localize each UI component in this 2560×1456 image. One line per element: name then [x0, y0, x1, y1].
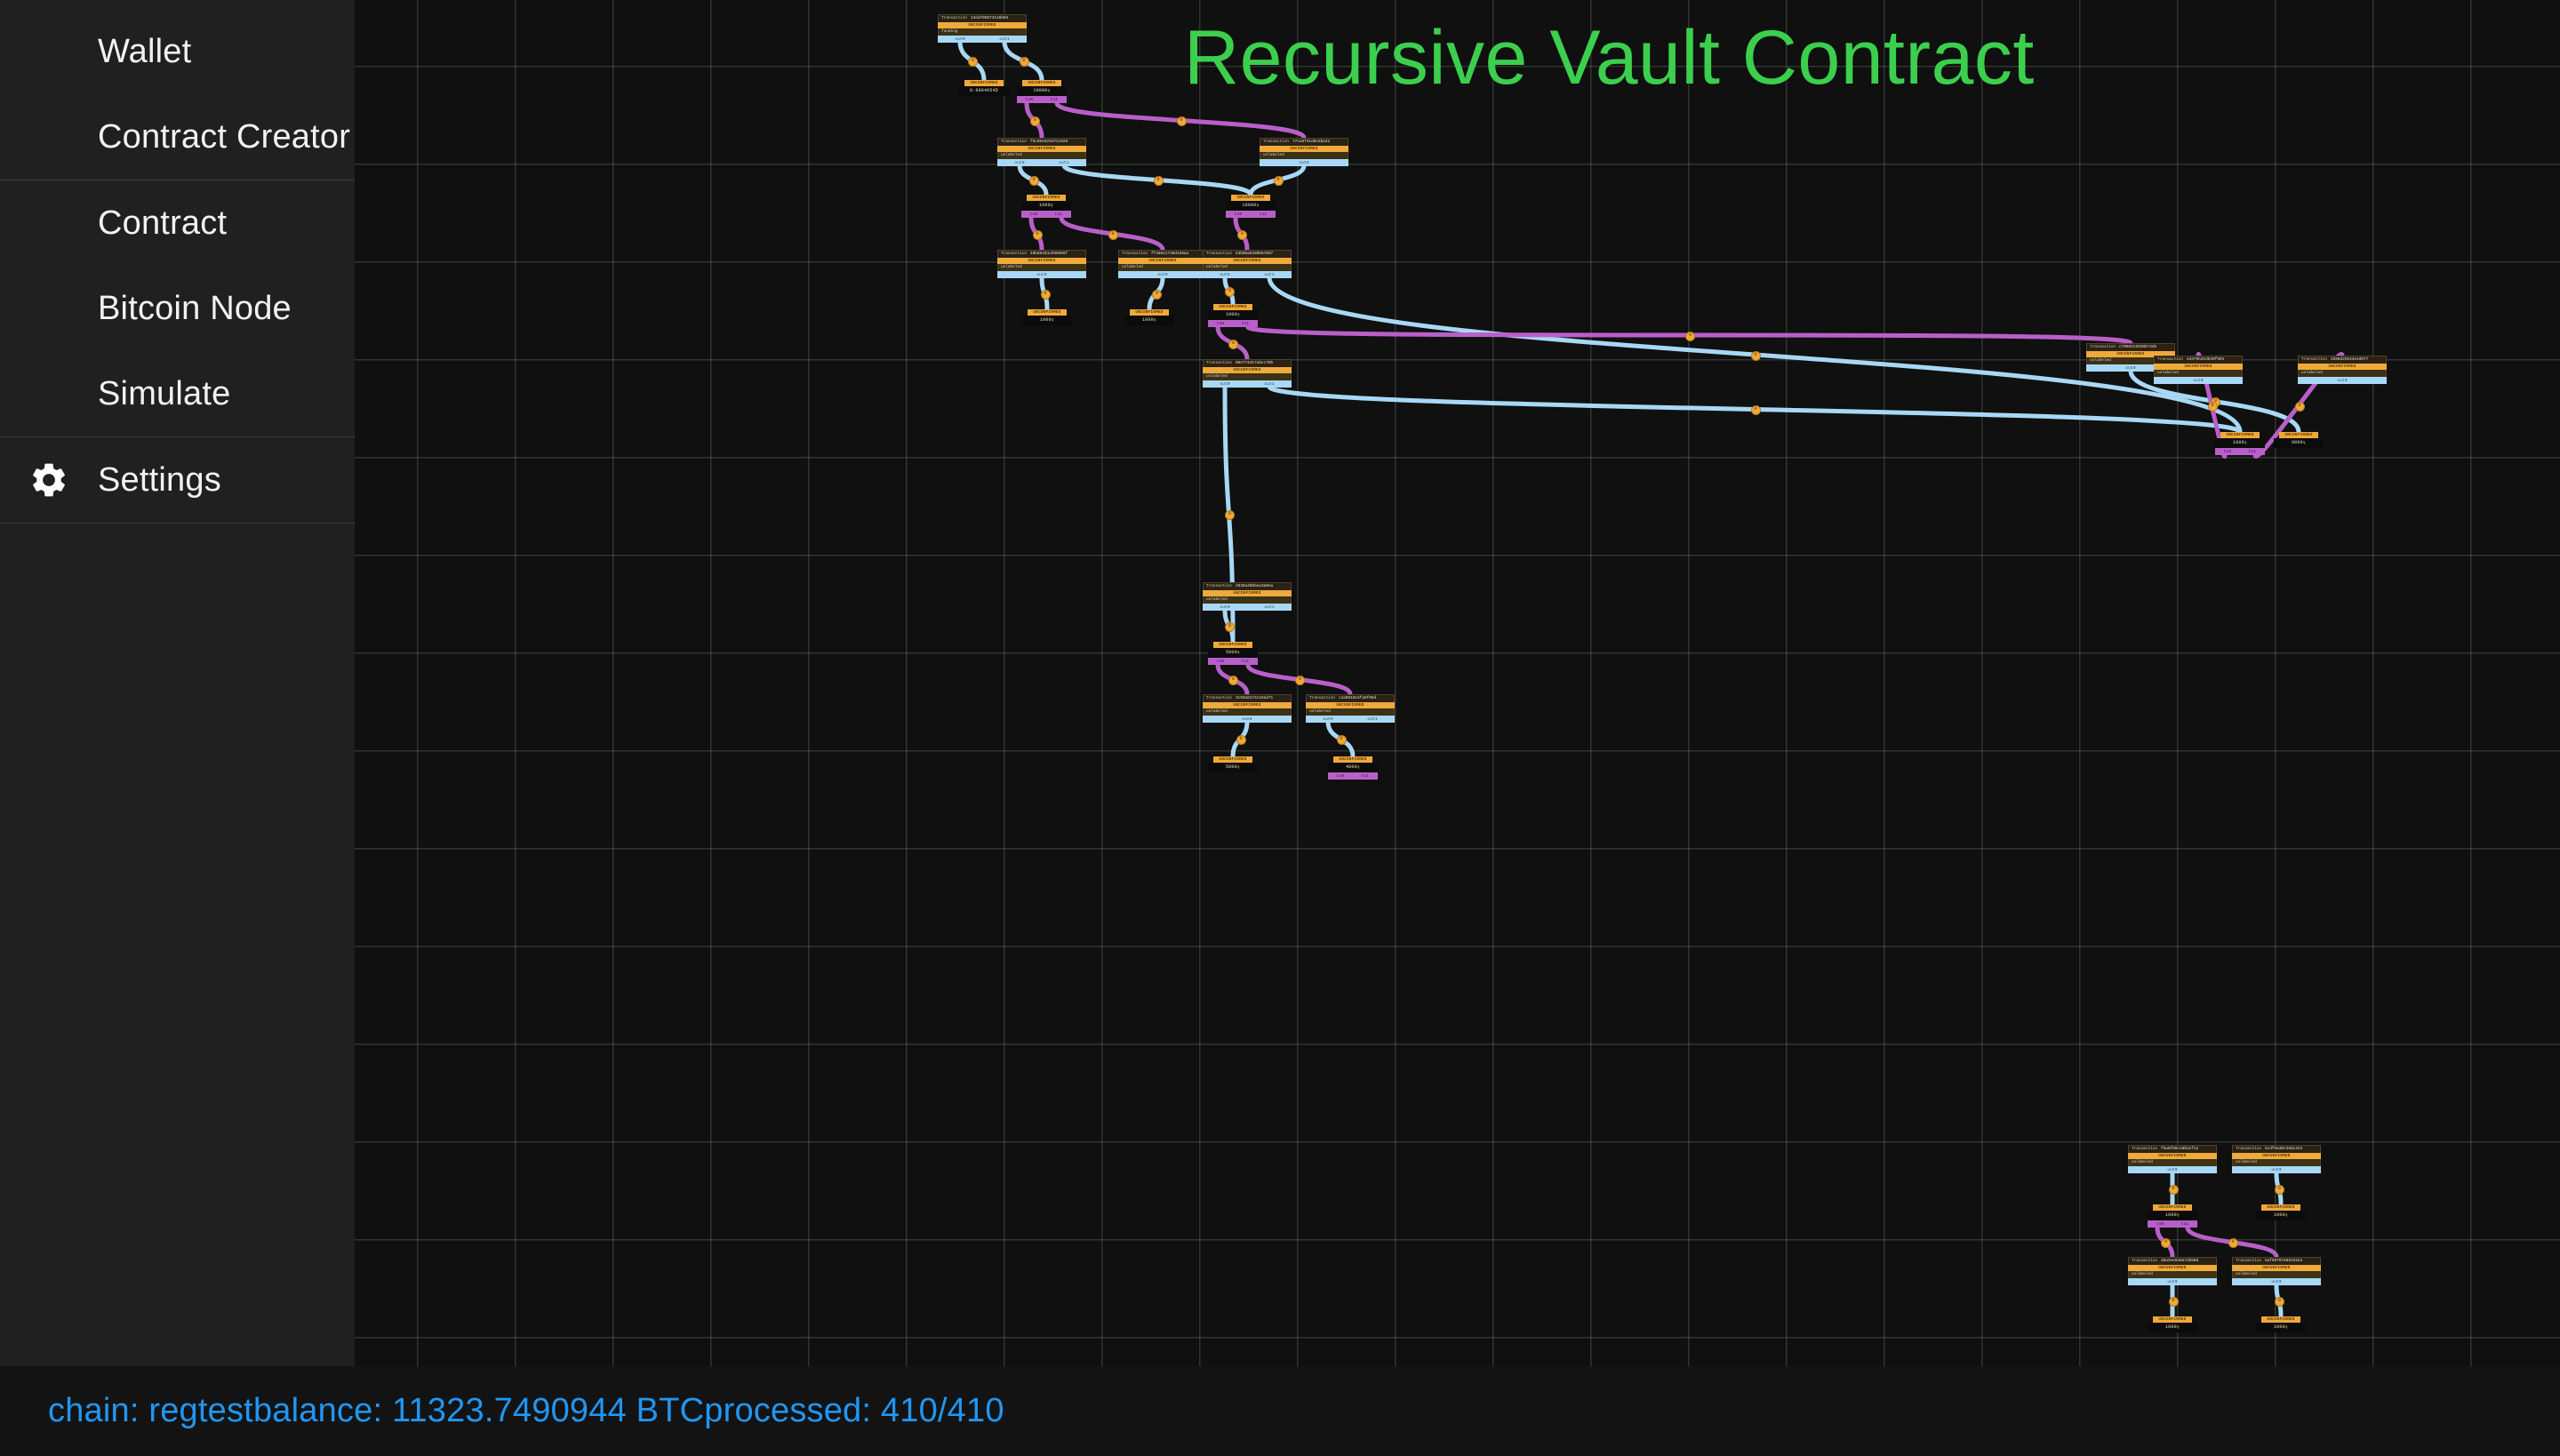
transaction-outputs[interactable]: out0out1 — [1203, 604, 1292, 611]
utxo-amount-unit: ş — [1051, 203, 1053, 208]
utxo-amount: 1000ş — [2256, 1323, 2306, 1332]
transaction-outputs[interactable]: out0 — [1203, 716, 1292, 723]
transaction-hash: f5a5f99ce8b1ef12 — [2161, 1146, 2198, 1153]
status-badge: UNCONFIRMED — [1027, 195, 1066, 201]
utxo-amount: 1000ş — [2148, 1323, 2197, 1332]
status-bar: chain: regtestbalance: 11323.7490944 BTC… — [0, 1366, 2560, 1456]
transaction-header: Transaction4038a408bea3a0ea — [1203, 582, 1292, 590]
utxo-amount-unit: ₿ — [996, 88, 998, 93]
spend-port-tx1[interactable]: tx1 — [2249, 450, 2257, 454]
status-badge: UNCONFIRMED — [2153, 1204, 2192, 1211]
utxo-amount-value: 1000 — [2274, 1212, 2285, 1218]
status-badge: UNCONFIRMED — [1203, 702, 1292, 708]
utxo-amount: 9000ş — [2274, 438, 2324, 448]
edge-index-badge: 0 — [1337, 735, 1347, 745]
sidebar-item-simulate[interactable]: Simulate — [0, 351, 355, 436]
status-badge: UNCONFIRMED — [1203, 590, 1292, 596]
output-port-out0[interactable]: out0 — [2271, 1280, 2281, 1284]
utxo-spend-ports[interactable]: tx0tx1 — [1021, 211, 1071, 218]
status-badge: UNCONFIRMED — [1213, 304, 1252, 310]
sidebar-item-wallet[interactable]: Wallet — [0, 9, 355, 94]
transaction-outputs[interactable]: out0out1 — [997, 159, 1086, 166]
output-port-out0[interactable]: out0 — [2337, 379, 2347, 383]
transaction-outputs[interactable]: out0 — [2232, 1278, 2321, 1285]
edge-index-badge: 0 — [2208, 402, 2218, 412]
utxo-amount-value: 10000 — [1242, 203, 1256, 208]
utxo-amount: 5000ş — [1208, 763, 1258, 772]
transaction-outputs[interactable]: out0 — [2128, 1166, 2217, 1173]
utxo-node[interactable]: UNCONFIRMED1000ştx0tx1 — [2148, 1204, 2197, 1228]
transaction-node[interactable]: Transaction49bd53d4cb90866fUNCONFIRMEDun… — [997, 250, 1086, 278]
utxo-node[interactable]: UNCONFIRMED1000ş — [2256, 1204, 2306, 1220]
output-port-out0[interactable]: out0 — [1014, 161, 1024, 165]
edge-index-badge: 0 — [1177, 116, 1187, 126]
transaction-hash: d6a3ee048a73b50d — [2161, 1258, 2198, 1265]
utxo-node[interactable]: UNCONFIRMED1000ştx0tx1 — [1021, 195, 1071, 218]
utxo-amount-unit: ş — [2303, 440, 2306, 445]
transaction-hash: 06e774417abcc78b — [1236, 360, 1273, 367]
spend-port-tx0[interactable]: tx0 — [1026, 98, 1034, 102]
transaction-outputs[interactable]: out0 — [2154, 377, 2243, 384]
spend-port-tx1[interactable]: tx1 — [1242, 322, 1250, 326]
utxo-amount-value: 1000 — [2274, 1324, 2285, 1330]
status-badge: UNCONFIRMED — [2128, 1153, 2217, 1159]
transaction-label: unlabeled — [1306, 708, 1395, 716]
edge-index-badge: 0 — [1274, 176, 1284, 186]
edge-index-badge: 0 — [1152, 290, 1162, 300]
sidebar-item-contract-creator[interactable]: Contract Creator — [0, 94, 355, 180]
utxo-spend-ports[interactable]: tx0tx1 — [1226, 211, 1276, 218]
transaction-outputs[interactable]: out0out1 — [1203, 271, 1292, 278]
spend-port-tx0[interactable]: tx0 — [1217, 660, 1225, 664]
status-badge: UNCONFIRMED — [2220, 432, 2260, 438]
edge-index-badge: 0 — [1225, 622, 1235, 632]
utxo-amount-value: 1000 — [1039, 203, 1051, 208]
sidebar-item-label: Wallet — [98, 33, 191, 71]
transaction-label: unlabeled — [1203, 264, 1292, 271]
utxo-node[interactable]: UNCONFIRMED1000ş — [1124, 309, 1174, 325]
output-port-out0[interactable]: out0 — [1323, 717, 1332, 722]
utxo-spend-ports[interactable]: tx0tx1 — [1208, 658, 1258, 665]
edge-index-badge: 0 — [1685, 332, 1695, 341]
transaction-header: Transactionffa8641740d159aa — [1118, 250, 1207, 258]
transaction-prefix-label: Transaction — [1206, 583, 1232, 590]
transaction-label: unlabeled — [997, 264, 1086, 271]
utxo-spend-ports[interactable]: tx0tx1 — [1208, 320, 1258, 327]
sidebar: WalletContract CreatorContractBitcoin No… — [0, 0, 355, 1366]
status-badge: UNCONFIRMED — [2232, 1265, 2321, 1271]
graph-canvas[interactable]: Transaction14ed785074146b04UNCONFIRMEDfu… — [355, 0, 2560, 1366]
edge-index-badge: 0 — [1751, 405, 1761, 415]
utxo-spend-ports[interactable]: tx0tx1 — [1328, 772, 1378, 780]
output-port-out0[interactable]: out0 — [1220, 382, 1229, 387]
utxo-amount-value: 1000 — [2165, 1212, 2177, 1218]
output-port-out1[interactable]: out1 — [999, 37, 1009, 42]
status-badge: UNCONFIRMED — [1231, 195, 1270, 201]
utxo-node[interactable]: UNCONFIRMED1000ş — [2256, 1316, 2306, 1332]
utxo-amount-value: 1000 — [2165, 1324, 2177, 1330]
transaction-label: unlabeled — [2128, 1271, 2217, 1278]
transaction-outputs[interactable]: out0 — [1260, 159, 1348, 166]
transaction-hash: 5cdf5a40c268c423 — [2265, 1146, 2302, 1153]
spend-port-tx0[interactable]: tx0 — [2224, 450, 2232, 454]
status-badge: UNCONFIRMED — [1306, 702, 1395, 708]
transaction-header: Transaction5af90797669151b4 — [2232, 1257, 2321, 1265]
status-badge: UNCONFIRMED — [1203, 367, 1292, 373]
transaction-hash: 2b08d25944e4d977 — [2331, 356, 2368, 364]
utxo-amount-unit: ş — [2285, 1324, 2288, 1330]
transaction-label: unlabeled — [1203, 708, 1292, 716]
transaction-prefix-label: Transaction — [2236, 1146, 2261, 1153]
transaction-header: Transaction49bd53d4cb90866f — [997, 250, 1086, 258]
output-port-out0[interactable]: out0 — [1220, 273, 1229, 277]
utxo-amount-unit: ş — [1357, 764, 1360, 770]
status-badge: UNCONFIRMED — [1022, 80, 1061, 86]
transaction-label: unlabeled — [997, 152, 1086, 159]
utxo-amount-value: 5000 — [1226, 764, 1237, 770]
utxo-amount: 1000ş — [2215, 438, 2265, 448]
transaction-label: unlabeled — [2232, 1271, 2321, 1278]
sidebar-item-label: Contract Creator — [98, 118, 350, 156]
edge-index-badge: 0 — [1751, 351, 1761, 361]
edge-index-badge: 0 — [1154, 176, 1164, 186]
transaction-node[interactable]: Transaction2b08d25944e4d977UNCONFIRMEDun… — [2298, 356, 2387, 384]
utxo-node[interactable]: UNCONFIRMED1000ş — [2148, 1316, 2197, 1332]
status-badge: UNCONFIRMED — [1213, 756, 1252, 763]
utxo-amount-value: 9000 — [2292, 440, 2303, 445]
transaction-prefix-label: Transaction — [2132, 1258, 2157, 1265]
edge-index-badge: 0 — [2275, 1185, 2284, 1195]
spend-port-tx1[interactable]: tx1 — [1055, 212, 1063, 217]
sidebar-item-label: Contract — [98, 204, 227, 243]
transaction-hash: c70962c9838b73d5 — [2119, 344, 2156, 351]
output-port-out0[interactable]: out0 — [2271, 1168, 2281, 1172]
utxo-amount-value: 1000 — [1226, 312, 1237, 317]
utxo-amount-unit: ş — [2244, 440, 2247, 445]
output-port-out1[interactable]: out1 — [1264, 605, 1274, 610]
status-chain: chain: regtest — [48, 1392, 253, 1430]
utxo-amount: 10000ş — [1017, 86, 1067, 96]
edge-layer — [355, 0, 2560, 1366]
sidebar-group-0: WalletContract Creator — [0, 0, 355, 180]
status-badge: UNCONFIRMED — [2128, 1265, 2217, 1271]
transaction-node[interactable]: Transactionf6c05e529471c029UNCONFIRMEDun… — [997, 138, 1086, 166]
utxo-amount-unit: ş — [1052, 317, 1054, 323]
edge-index-badge: 0 — [1237, 230, 1247, 240]
status-badge: UNCONFIRMED — [2261, 1316, 2300, 1323]
transaction-node[interactable]: Transaction06e774417abcc78bUNCONFIRMEDun… — [1203, 359, 1292, 388]
transaction-node[interactable]: Transaction5af90797669151b4UNCONFIRMEDun… — [2232, 1257, 2321, 1285]
output-port-out0[interactable]: out0 — [2167, 1280, 2177, 1284]
edge-index-badge: 0 — [2228, 1238, 2238, 1248]
transaction-prefix-label: Transaction — [2157, 356, 2183, 364]
status-badge: UNCONFIRMED — [2298, 364, 2387, 370]
edge-index-badge: 0 — [1228, 340, 1238, 349]
output-port-out0[interactable]: out0 — [2125, 366, 2135, 371]
transaction-node[interactable]: Transactionffa8641740d159aaUNCONFIRMEDun… — [1118, 250, 1207, 278]
utxo-spend-ports[interactable]: tx0tx1 — [2148, 1220, 2197, 1228]
app-root: WalletContract CreatorContractBitcoin No… — [0, 0, 2560, 1456]
spend-port-tx0[interactable]: tx0 — [1217, 322, 1225, 326]
spend-port-tx1[interactable]: tx1 — [1242, 660, 1250, 664]
utxo-spend-ports[interactable]: tx0tx1 — [1017, 96, 1067, 103]
utxo-node[interactable]: UNCONFIRMED5000ştx0tx1 — [1208, 642, 1258, 665]
utxo-amount: 10000ş — [1226, 201, 1276, 211]
transaction-hash: 49bd53d4cb90866f — [1030, 251, 1068, 258]
utxo-amount-unit: ş — [1237, 764, 1240, 770]
status-badge: UNCONFIRMED — [997, 146, 1086, 152]
transaction-outputs[interactable]: out0 — [1118, 271, 1207, 278]
status-badge: UNCONFIRMED — [997, 258, 1086, 264]
transaction-prefix-label: Transaction — [2132, 1146, 2157, 1153]
transaction-label: unlabeled — [1203, 373, 1292, 380]
transaction-prefix-label: Transaction — [1122, 251, 1148, 258]
utxo-node[interactable]: UNCONFIRMED1000ş — [1022, 309, 1072, 325]
transaction-label: unlabeled — [1118, 264, 1207, 271]
output-port-out0[interactable]: out0 — [2193, 379, 2203, 383]
transaction-node[interactable]: Transaction77ca9f41d0c8ba21UNCONFIRMEDun… — [1260, 138, 1348, 166]
transaction-hash: 63b0bab3805670d7 — [1236, 251, 1273, 258]
status-badge: UNCONFIRMED — [1333, 756, 1372, 763]
output-port-out1[interactable]: out1 — [1367, 717, 1377, 722]
utxo-amount: 5000ş — [1208, 648, 1258, 658]
status-processed: processed: 410/410 — [704, 1392, 1004, 1430]
transaction-outputs[interactable]: out0 — [997, 271, 1086, 278]
sidebar-item-label: Simulate — [98, 375, 230, 413]
transaction-header: Transaction06e774417abcc78b — [1203, 359, 1292, 367]
status-badge: UNCONFIRMED — [2279, 432, 2318, 438]
utxo-node[interactable]: UNCONFIRMED1000ştx0tx1 — [1208, 304, 1258, 327]
spend-port-tx1[interactable]: tx1 — [1260, 212, 1268, 217]
transaction-header: Transactionc70962c9838b73d5 — [2086, 343, 2175, 351]
status-badge: UNCONFIRMED — [938, 22, 1027, 28]
output-port-out0[interactable]: out0 — [1220, 605, 1229, 610]
utxo-amount: 1000ş — [2256, 1211, 2306, 1220]
transaction-header: Transactionf6c05e529471c029 — [997, 138, 1086, 146]
utxo-amount-value: 1000 — [1142, 317, 1154, 323]
body-row: WalletContract CreatorContractBitcoin No… — [0, 0, 2560, 1366]
transaction-node[interactable]: Transactionc1a0519e2fa6f06dUNCONFIRMEDun… — [1306, 694, 1395, 723]
status-balance: balance: 11323.7490944 BTC — [253, 1392, 704, 1430]
utxo-node[interactable]: UNCONFIRMED0.9994654₿ — [959, 80, 1009, 96]
transaction-prefix-label: Transaction — [1206, 251, 1232, 258]
status-badge: UNCONFIRMED — [1203, 258, 1292, 264]
transaction-header: Transaction5cdf5a40c268c423 — [2232, 1145, 2321, 1153]
transaction-prefix-label: Transaction — [1001, 251, 1027, 258]
transaction-label: unlabeled — [2128, 1159, 2217, 1166]
utxo-amount-unit: ş — [2285, 1212, 2288, 1218]
status-badge: UNCONFIRMED — [964, 80, 1004, 86]
output-port-out1[interactable]: out1 — [1264, 273, 1274, 277]
transaction-hash: c1a0519e2fa6f06d — [1339, 695, 1376, 702]
utxo-amount-unit: ş — [1047, 88, 1050, 93]
transaction-prefix-label: Transaction — [941, 15, 967, 22]
utxo-amount-value: 1000 — [2233, 440, 2244, 445]
output-port-out0[interactable]: out0 — [1299, 161, 1308, 165]
output-port-out1[interactable]: out1 — [1059, 161, 1068, 165]
edge-index-badge: 0 — [2169, 1297, 2179, 1307]
transaction-prefix-label: Transaction — [1206, 695, 1232, 702]
transaction-node[interactable]: Transactioned470b2bd630f904UNCONFIRMEDun… — [2154, 356, 2243, 384]
output-port-out0[interactable]: out0 — [955, 37, 964, 42]
output-port-out0[interactable]: out0 — [1157, 273, 1167, 277]
transaction-label: unlabeled — [2232, 1159, 2321, 1166]
spend-port-tx0[interactable]: tx0 — [2156, 1222, 2164, 1227]
transaction-header: Transaction14ed785074146b04 — [938, 14, 1027, 22]
edge-index-badge: 0 — [1108, 230, 1118, 240]
transaction-prefix-label: Transaction — [2090, 344, 2116, 351]
transaction-prefix-label: Transaction — [2301, 356, 2327, 364]
gear-icon — [0, 460, 98, 500]
utxo-amount: 4000ş — [1328, 763, 1378, 772]
edge-index-badge: 0 — [1228, 676, 1238, 685]
edge-index-badge: 0 — [1020, 57, 1029, 67]
utxo-amount: 1000ş — [1208, 310, 1258, 320]
transaction-node[interactable]: Transaction4038a408bea3a0eaUNCONFIRMEDun… — [1203, 582, 1292, 611]
edge-index-badge: 0 — [2161, 1238, 2171, 1248]
status-badge: UNCONFIRMED — [2154, 364, 2243, 370]
transaction-node[interactable]: Transaction5cdf5a40c268c423UNCONFIRMEDun… — [2232, 1145, 2321, 1173]
transaction-hash: ffa8641740d159aa — [1151, 251, 1188, 258]
edge-index-badge: 0 — [2275, 1297, 2284, 1307]
output-port-out0[interactable]: out0 — [2167, 1168, 2177, 1172]
utxo-node[interactable]: UNCONFIRMED1000ştx0tx1 — [2215, 432, 2265, 455]
utxo-amount-value: 10000 — [1033, 88, 1047, 93]
edge-index-badge: 0 — [1236, 735, 1246, 745]
sidebar-item-label: Bitcoin Node — [98, 290, 292, 328]
transaction-header: Transactionf5a5f99ce8b1ef12 — [2128, 1145, 2217, 1153]
utxo-amount-unit: ş — [2177, 1324, 2180, 1330]
output-port-out0[interactable]: out0 — [1242, 717, 1252, 722]
utxo-amount-value: 0.9994654 — [970, 88, 996, 93]
sidebar-item-settings[interactable]: Settings — [0, 437, 355, 523]
utxo-amount: 1000ş — [1124, 316, 1174, 325]
transaction-label: unlabeled — [2154, 370, 2243, 377]
transaction-label: unlabeled — [1260, 152, 1348, 159]
utxo-node[interactable]: UNCONFIRMED10000ştx0tx1 — [1017, 80, 1067, 103]
status-badge: UNCONFIRMED — [1213, 642, 1252, 648]
sidebar-item-bitcoin-node[interactable]: Bitcoin Node — [0, 266, 355, 351]
transaction-label: funding — [938, 28, 1027, 36]
edge-index-badge: 0 — [968, 57, 978, 67]
utxo-amount-value: 5000 — [1226, 650, 1237, 655]
transaction-outputs[interactable]: out0out1 — [1306, 716, 1395, 723]
edge-index-badge: 0 — [1225, 287, 1235, 297]
transaction-prefix-label: Transaction — [1263, 139, 1289, 146]
transaction-outputs[interactable]: out0out1 — [938, 36, 1027, 43]
transaction-hash: 77ca9f41d0c8ba21 — [1292, 139, 1330, 146]
spend-port-tx0[interactable]: tx0 — [1337, 774, 1345, 779]
transaction-hash: f6c05e529471c029 — [1030, 139, 1068, 146]
edge-index-badge: 0 — [1029, 176, 1039, 186]
transaction-outputs[interactable]: out0 — [2232, 1166, 2321, 1173]
transaction-prefix-label: Transaction — [1309, 695, 1335, 702]
utxo-amount-value: 4000 — [1346, 764, 1357, 770]
transaction-node[interactable]: Transaction3c59a8174c16ad71UNCONFIRMEDun… — [1203, 694, 1292, 723]
utxo-amount-value: 1000 — [1040, 317, 1052, 323]
spend-port-tx1[interactable]: tx1 — [2181, 1222, 2189, 1227]
spend-port-tx0[interactable]: tx0 — [1235, 212, 1243, 217]
status-badge: UNCONFIRMED — [1260, 146, 1348, 152]
transaction-hash: 5af90797669151b4 — [2265, 1258, 2302, 1265]
status-badge: UNCONFIRMED — [2153, 1316, 2192, 1323]
utxo-amount: 0.9994654₿ — [959, 86, 1009, 96]
utxo-node[interactable]: UNCONFIRMED5000ş — [1208, 756, 1258, 772]
edge-index-badge: 0 — [2169, 1185, 2179, 1195]
transaction-header: Transactiond6a3ee048a73b50d — [2128, 1257, 2217, 1265]
sidebar-item-contract[interactable]: Contract — [0, 180, 355, 266]
utxo-amount: 1000ş — [1022, 316, 1072, 325]
transaction-header: Transaction2b08d25944e4d977 — [2298, 356, 2387, 364]
sidebar-group-2: Settings — [0, 437, 355, 524]
edge-index-badge: 0 — [1041, 290, 1051, 300]
status-badge: UNCONFIRMED — [1130, 309, 1169, 316]
utxo-node[interactable]: UNCONFIRMED4000ştx0tx1 — [1328, 756, 1378, 780]
utxo-amount-unit: ş — [2177, 1212, 2180, 1218]
edge-index-badge: 0 — [1225, 510, 1235, 520]
transaction-hash: ed470b2bd630f904 — [2187, 356, 2224, 364]
transaction-label: unlabeled — [1203, 596, 1292, 604]
spend-port-tx0[interactable]: tx0 — [1030, 212, 1038, 217]
transaction-header: Transactioned470b2bd630f904 — [2154, 356, 2243, 364]
transaction-node[interactable]: Transactionf5a5f99ce8b1ef12UNCONFIRMEDun… — [2128, 1145, 2217, 1173]
transaction-prefix-label: Transaction — [1001, 139, 1027, 146]
transaction-prefix-label: Transaction — [2236, 1258, 2261, 1265]
utxo-node[interactable]: UNCONFIRMED9000ş — [2274, 432, 2324, 448]
transaction-label: unlabeled — [2298, 370, 2387, 377]
utxo-amount: 1000ş — [2148, 1211, 2197, 1220]
transaction-hash: 3c59a8174c16ad71 — [1236, 695, 1273, 702]
utxo-spend-ports[interactable]: tx0tx1 — [2215, 448, 2265, 455]
output-port-out0[interactable]: out0 — [1036, 273, 1046, 277]
transaction-outputs[interactable]: out0 — [2298, 377, 2387, 384]
transaction-node[interactable]: Transactiond6a3ee048a73b50dUNCONFIRMEDun… — [2128, 1257, 2217, 1285]
edge-index-badge: 0 — [2295, 402, 2305, 412]
transaction-outputs[interactable]: out0out1 — [1203, 380, 1292, 388]
sidebar-item-label: Settings — [98, 461, 221, 500]
utxo-amount-unit: ş — [1256, 203, 1259, 208]
spend-port-tx1[interactable]: tx1 — [1362, 774, 1370, 779]
transaction-hash: 4038a408bea3a0ea — [1236, 583, 1273, 590]
transaction-node[interactable]: Transaction63b0bab3805670d7UNCONFIRMEDun… — [1203, 250, 1292, 278]
status-badge: UNCONFIRMED — [2261, 1204, 2300, 1211]
edge-index-badge: 0 — [1295, 676, 1305, 685]
transaction-header: Transactionc1a0519e2fa6f06d — [1306, 694, 1395, 702]
status-badge: UNCONFIRMED — [1118, 258, 1207, 264]
utxo-amount-unit: ş — [1154, 317, 1156, 323]
transaction-header: Transaction63b0bab3805670d7 — [1203, 250, 1292, 258]
transaction-node[interactable]: Transaction14ed785074146b04UNCONFIRMEDfu… — [938, 14, 1027, 43]
transaction-hash: 14ed785074146b04 — [971, 15, 1008, 22]
sidebar-group-1: ContractBitcoin NodeSimulate — [0, 180, 355, 437]
transaction-header: Transaction77ca9f41d0c8ba21 — [1260, 138, 1348, 146]
transaction-prefix-label: Transaction — [1206, 360, 1232, 367]
transaction-header: Transaction3c59a8174c16ad71 — [1203, 694, 1292, 702]
edge-index-badge: 0 — [1030, 116, 1040, 126]
utxo-amount: 1000ş — [1021, 201, 1071, 211]
utxo-amount-unit: ş — [1237, 312, 1240, 317]
status-badge: UNCONFIRMED — [1028, 309, 1067, 316]
status-badge: UNCONFIRMED — [2232, 1153, 2321, 1159]
transaction-outputs[interactable]: out0 — [2128, 1278, 2217, 1285]
spend-port-tx1[interactable]: tx1 — [1051, 98, 1059, 102]
utxo-amount-unit: ş — [1237, 650, 1240, 655]
utxo-node[interactable]: UNCONFIRMED10000ştx0tx1 — [1226, 195, 1276, 218]
output-port-out1[interactable]: out1 — [1264, 382, 1274, 387]
edge-index-badge: 0 — [1033, 230, 1043, 240]
